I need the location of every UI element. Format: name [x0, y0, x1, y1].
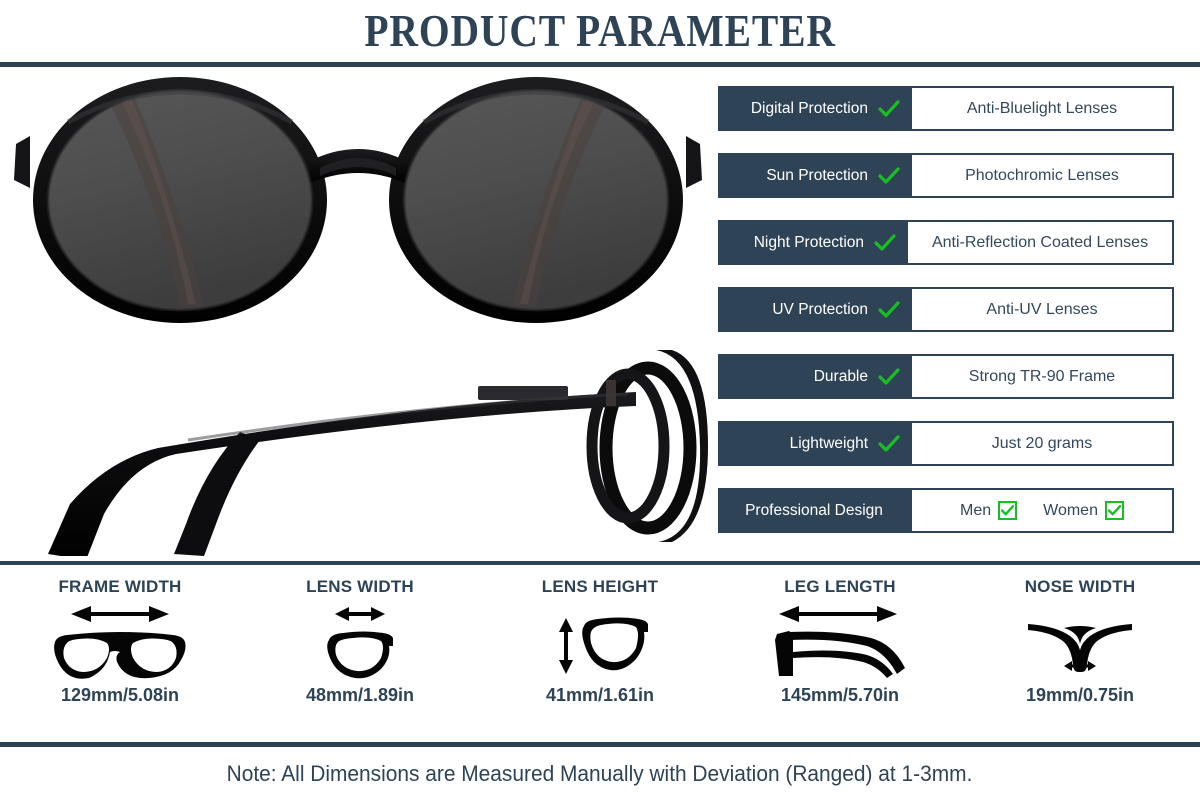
- gender-label: Women: [1043, 502, 1098, 520]
- feature-row-professional-design: Professional Design Men Women: [718, 488, 1174, 533]
- feature-row: Lightweight Just 20 grams: [718, 421, 1174, 466]
- gender-option-women[interactable]: Women: [1043, 501, 1124, 520]
- checkbox-checked-icon[interactable]: [998, 501, 1017, 520]
- dimension-nose-width: NOSE WIDTH 19mm/0.75in: [960, 566, 1200, 738]
- feature-label: Professional Design: [745, 502, 883, 520]
- feature-label-cell: Durable: [718, 354, 910, 399]
- product-image-panel: [0, 70, 706, 558]
- feature-value: Anti-UV Lenses: [910, 287, 1174, 332]
- nose-width-icon: [1020, 597, 1140, 685]
- gender-option-men[interactable]: Men: [960, 501, 1017, 520]
- lens-height-icon: [540, 597, 660, 685]
- feature-value: Anti-Bluelight Lenses: [910, 86, 1174, 131]
- feature-row: Night Protection Anti-Reflection Coated …: [718, 220, 1174, 265]
- feature-table: Digital Protection Anti-Bluelight Lenses…: [718, 86, 1174, 538]
- dimension-title: FRAME WIDTH: [58, 577, 181, 597]
- dimension-value: 129mm/5.08in: [61, 685, 179, 706]
- feature-row: Sun Protection Photochromic Lenses: [718, 153, 1174, 198]
- green-check-icon: [874, 234, 896, 252]
- lens-width-icon: [305, 597, 415, 685]
- dimension-value: 19mm/0.75in: [1026, 685, 1134, 706]
- feature-label: Digital Protection: [751, 100, 868, 118]
- green-check-icon: [878, 368, 900, 386]
- dimension-title: LENS WIDTH: [306, 577, 414, 597]
- feature-label: Sun Protection: [766, 167, 868, 185]
- feature-value: Photochromic Lenses: [910, 153, 1174, 198]
- feature-label: Night Protection: [754, 234, 864, 252]
- feature-label-cell: Sun Protection: [718, 153, 910, 198]
- dimension-value: 41mm/1.61in: [546, 685, 654, 706]
- feature-row: UV Protection Anti-UV Lenses: [718, 287, 1174, 332]
- feature-label-cell: UV Protection: [718, 287, 910, 332]
- feature-value: Just 20 grams: [910, 421, 1174, 466]
- green-check-icon: [878, 167, 900, 185]
- feature-label-cell: Lightweight: [718, 421, 910, 466]
- feature-label: Durable: [814, 368, 868, 386]
- green-check-icon: [878, 301, 900, 319]
- product-side-view-image: [8, 328, 708, 556]
- checkbox-checked-icon[interactable]: [1105, 501, 1124, 520]
- page-header: PRODUCT PARAMETER: [0, 0, 1200, 62]
- green-check-icon: [878, 435, 900, 453]
- feature-row: Durable Strong TR-90 Frame: [718, 354, 1174, 399]
- green-check-icon: [878, 100, 900, 118]
- feature-value: Strong TR-90 Frame: [910, 354, 1174, 399]
- feature-label: UV Protection: [772, 301, 868, 319]
- feature-value: Anti-Reflection Coated Lenses: [906, 220, 1174, 265]
- feature-label-cell: Night Protection: [718, 220, 906, 265]
- page-title: PRODUCT PARAMETER: [364, 8, 835, 54]
- header-divider: [0, 62, 1200, 67]
- gender-label: Men: [960, 502, 991, 520]
- feature-label-cell: Professional Design: [718, 488, 910, 533]
- product-front-view-image: [8, 76, 708, 326]
- feature-row: Digital Protection Anti-Bluelight Lenses: [718, 86, 1174, 131]
- dimension-lens-height: LENS HEIGHT 41mm/1.61in: [480, 566, 720, 738]
- dimensions-divider: [0, 561, 1200, 565]
- frame-width-icon: [45, 597, 195, 685]
- dimension-leg-length: LEG LENGTH 145mm/5.70in: [720, 566, 960, 738]
- leg-length-icon: [767, 597, 913, 685]
- dimension-value: 48mm/1.89in: [306, 685, 414, 706]
- feature-label-cell: Digital Protection: [718, 86, 910, 131]
- dimension-title: LEG LENGTH: [784, 577, 896, 597]
- feature-value-gender: Men Women: [910, 488, 1174, 533]
- feature-label: Lightweight: [790, 435, 868, 453]
- dimension-lens-width: LENS WIDTH 48mm/1.89in: [240, 566, 480, 738]
- dimensions-panel: FRAME WIDTH 129mm/5.08in LENS WIDTH: [0, 566, 1200, 738]
- footer-note: Note: All Dimensions are Measured Manual…: [0, 747, 1200, 800]
- dimension-title: LENS HEIGHT: [542, 577, 659, 597]
- dimension-title: NOSE WIDTH: [1025, 577, 1136, 597]
- dimension-frame-width: FRAME WIDTH 129mm/5.08in: [0, 566, 240, 738]
- footer-note-text: Note: All Dimensions are Measured Manual…: [227, 761, 973, 787]
- dimension-value: 145mm/5.70in: [781, 685, 899, 706]
